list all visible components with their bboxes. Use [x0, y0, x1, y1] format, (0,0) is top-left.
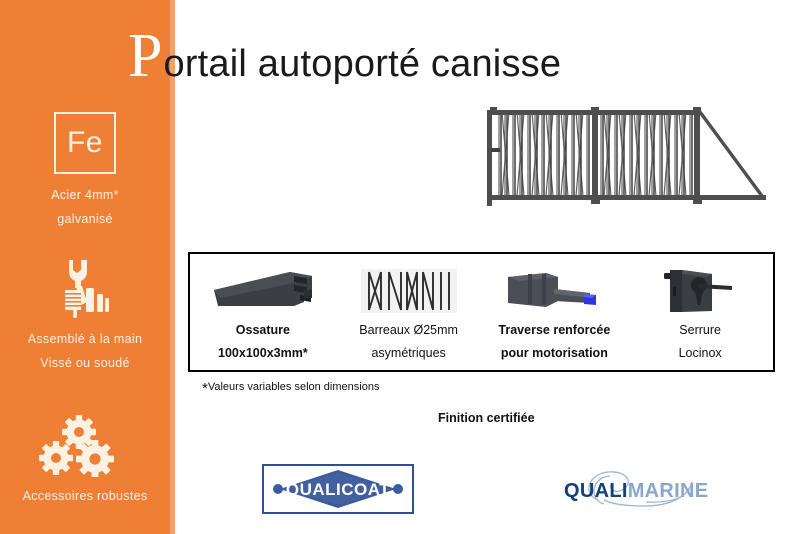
spec-cell-barreaux-line2: asymétriques — [371, 346, 445, 360]
sidebar-item-acier-line2: galvanisé — [0, 208, 170, 232]
reinforced-crossbar-icon — [498, 262, 610, 320]
spec-cell-serrure: Serrure Locinox — [627, 254, 773, 370]
spec-cell-traverse: Traverse renforcée pour motorisation — [482, 254, 628, 370]
spec-cell-barreaux: Barreaux Ø25mm asymétriques — [336, 254, 482, 370]
qualicoat-logo: QUALICOAT — [262, 464, 414, 514]
spec-cell-serrure-line1: Serrure — [679, 323, 721, 337]
qualimarine-logo: QUALIMARINE — [562, 466, 712, 512]
footnote: *Valeurs variables selon dimensions — [202, 381, 379, 396]
lock-icon — [654, 262, 746, 320]
gate-latch — [491, 148, 500, 152]
certification-label: Finition certifiée — [438, 411, 535, 425]
spec-cell-traverse-line2: pour motorisation — [501, 346, 608, 360]
sidebar-item-accessoires-line1: Accessoires robustes — [0, 485, 170, 509]
sidebar-item-assemblage-line1: Assemblé à la main — [0, 328, 170, 352]
sidebar-item-acier: Fe Acier 4mm* galvanisé — [0, 112, 170, 232]
title-drop-cap: P — [128, 25, 162, 87]
asymmetric-bars-icon — [361, 262, 457, 320]
sidebar-item-acier-line1: Acier 4mm* — [0, 184, 170, 208]
sidebar-item-assemblage: Assemblé à la main Vissé ou soudé — [0, 258, 170, 376]
qualimarine-wordmark: QUALIMARINE — [564, 480, 708, 503]
spec-cell-barreaux-line1: Barreaux Ø25mm — [359, 323, 458, 337]
cantilever-sliding-gate-drawing — [472, 96, 772, 218]
page-title: P ortail autoporté canisse — [128, 25, 561, 85]
specification-box: Ossature 100x100x3mm* Barreaux Ø25mm asy… — [188, 252, 775, 372]
gears-icon — [37, 415, 133, 477]
spec-cell-serrure-line2: Locinox — [679, 346, 722, 360]
spec-cell-ossature: Ossature 100x100x3mm* — [190, 254, 336, 370]
spec-cell-ossature-line2: 100x100x3mm* — [218, 346, 308, 360]
sidebar-item-assemblage-line2: Vissé ou soudé — [0, 352, 170, 376]
gate-bars-panel-b — [601, 112, 692, 196]
spec-cell-traverse-line1: Traverse renforcée — [498, 323, 610, 337]
fe-element-box-icon: Fe — [54, 112, 116, 174]
gate-counterweight — [700, 112, 762, 196]
qualicoat-wordmark: QUALICOAT — [286, 480, 390, 499]
steel-profile-icon — [208, 262, 318, 320]
gate-bars-panel-a — [499, 112, 589, 196]
fe-symbol-label: Fe — [67, 128, 103, 158]
qualimarine-part2: MARINE — [628, 480, 709, 502]
qualimarine-part1: QUALI — [564, 480, 628, 502]
product-sheet-page: Fe Acier 4mm* galvanisé Assemblé à la ma… — [0, 0, 800, 534]
sidebar-item-accessoires: Accessoires robustes — [0, 415, 170, 509]
spec-cell-ossature-line1: Ossature — [236, 323, 290, 337]
title-text: ortail autoporté canisse — [163, 45, 561, 83]
wrench-bolt-icon — [53, 258, 117, 320]
footnote-text: Valeurs variables selon dimensions — [208, 381, 380, 393]
